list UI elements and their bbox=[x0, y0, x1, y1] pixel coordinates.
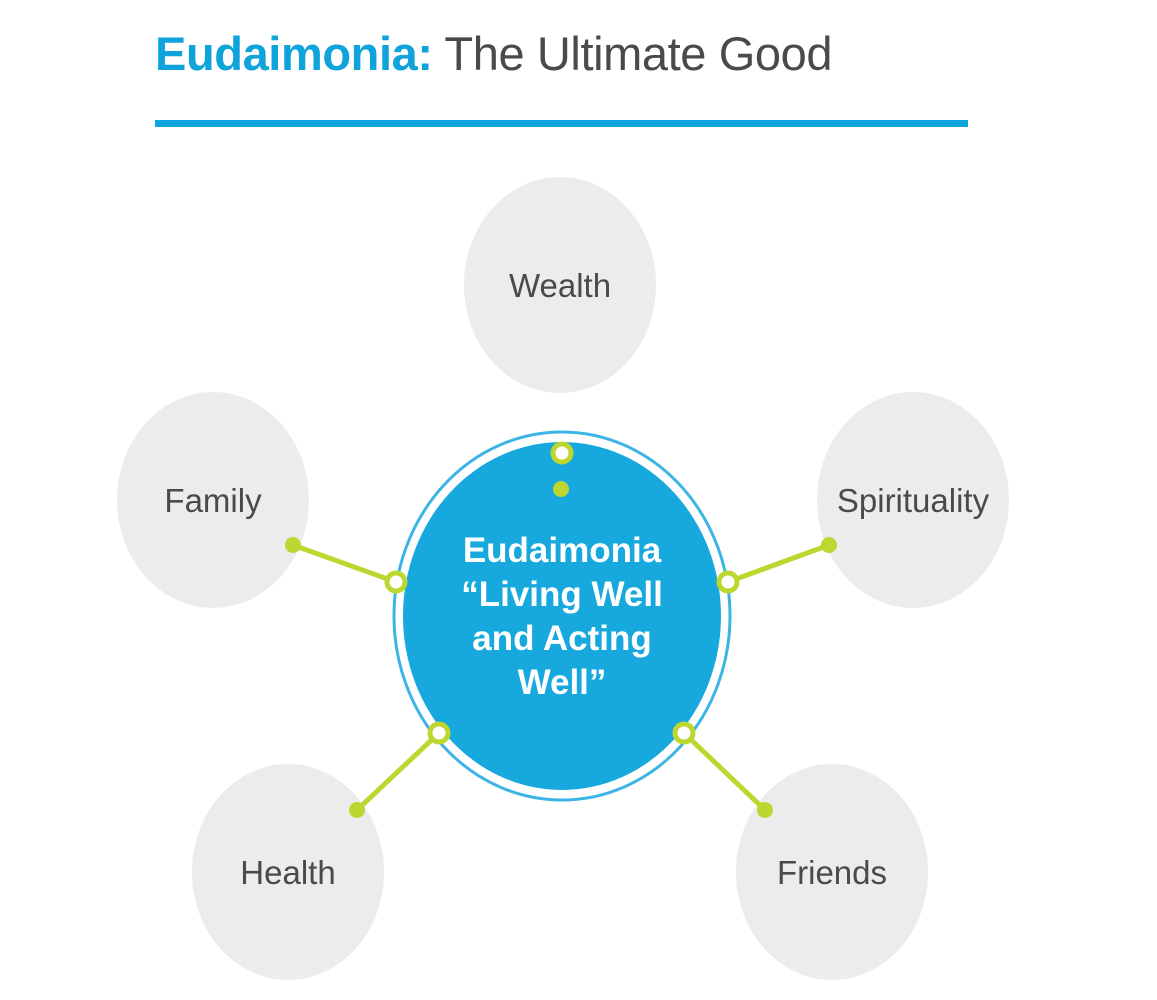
connector-line-family bbox=[293, 545, 396, 582]
hub-label-line-2: and Acting bbox=[472, 619, 652, 658]
satellite-label-spirituality: Spirituality bbox=[837, 482, 990, 519]
connector-dot-friends bbox=[757, 802, 773, 818]
connector-line-health bbox=[357, 733, 439, 810]
connector-node-health bbox=[430, 724, 448, 742]
title-underline-rule bbox=[155, 120, 968, 127]
eudaimonia-diagram: WealthFamilySpiritualityHealthFriends Eu… bbox=[0, 150, 1157, 1000]
hub-and-spoke-svg: WealthFamilySpiritualityHealthFriends Eu… bbox=[0, 150, 1157, 1000]
hub-label-line-3: Well” bbox=[518, 663, 607, 702]
slide-canvas: Eudaimonia: The Ultimate Good WealthFami… bbox=[0, 0, 1157, 1000]
connector-dot-wealth bbox=[553, 481, 569, 497]
satellite-label-wealth: Wealth bbox=[509, 267, 611, 304]
hub-label-line-0: Eudaimonia bbox=[463, 531, 662, 570]
slide-header: Eudaimonia: The Ultimate Good bbox=[155, 24, 1055, 134]
connector-node-family bbox=[387, 573, 405, 591]
title-rest-text: The Ultimate Good bbox=[433, 27, 832, 80]
satellite-label-health: Health bbox=[240, 854, 335, 891]
hub-label-line-1: “Living Well bbox=[461, 575, 663, 614]
connector-node-friends bbox=[675, 724, 693, 742]
connector-dot-health bbox=[349, 802, 365, 818]
satellite-label-family: Family bbox=[164, 482, 262, 519]
connector-line-spirituality bbox=[728, 545, 829, 582]
connector-line-friends bbox=[684, 733, 765, 810]
connector-dot-spirituality bbox=[821, 537, 837, 553]
title-accent-text: Eudaimonia: bbox=[155, 27, 433, 80]
connector-node-spirituality bbox=[719, 573, 737, 591]
page-title: Eudaimonia: The Ultimate Good bbox=[155, 24, 1055, 84]
connector-dot-family bbox=[285, 537, 301, 553]
connector-node-wealth bbox=[553, 444, 571, 462]
satellite-label-friends: Friends bbox=[777, 854, 887, 891]
